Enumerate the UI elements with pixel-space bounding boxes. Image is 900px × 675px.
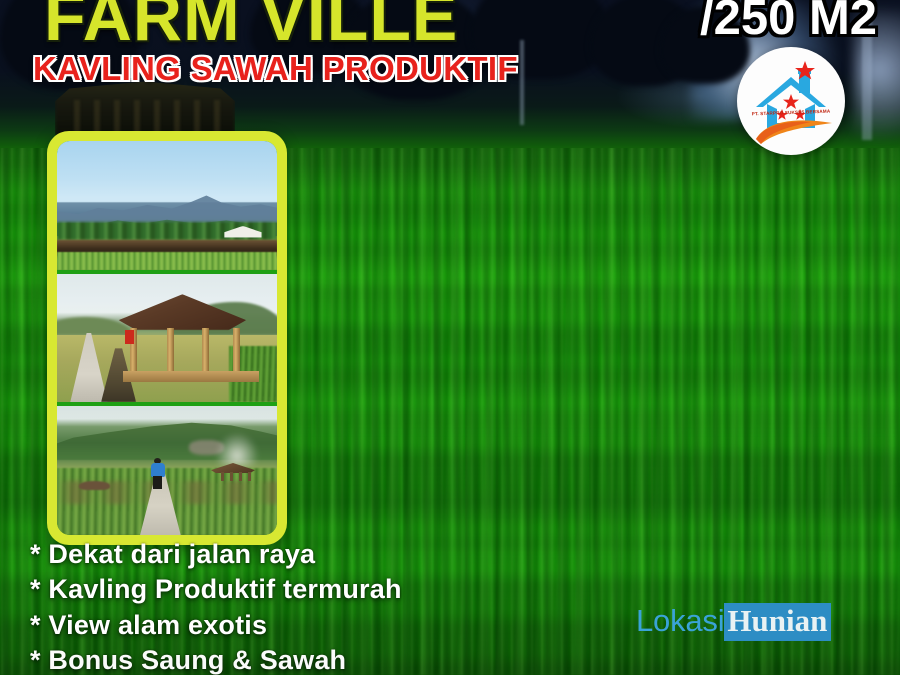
mountain-ridge-far (57, 192, 277, 223)
promo-poster: FARM VILLE KAVLING SAWAH PRODUKTIF /250 … (0, 0, 900, 675)
tree-silhouette (340, 0, 490, 100)
smoke-plume (215, 432, 259, 465)
red-flag-marker (125, 330, 134, 344)
price-unit-label: /250 M2 (700, 0, 877, 46)
company-logo: PT. STARPRO SUKSES BERSAMA (737, 47, 845, 155)
utility-pole (520, 40, 524, 125)
photo-collage-inner (57, 141, 277, 535)
logo-artwork (737, 47, 845, 155)
tree-silhouette (470, 0, 610, 79)
tree-silhouette (0, 0, 140, 90)
paddy-foreground (57, 252, 277, 270)
dirt-mound (79, 481, 110, 490)
gazebo-posts (215, 472, 250, 481)
photo-mountain-paddy[interactable] (57, 141, 277, 270)
photo-collage-frame (47, 131, 287, 545)
person-legs (153, 476, 162, 489)
photo-gazebo-path[interactable] (57, 274, 277, 403)
gazebo-deck (123, 371, 259, 381)
photo-walking-path[interactable] (57, 406, 277, 535)
